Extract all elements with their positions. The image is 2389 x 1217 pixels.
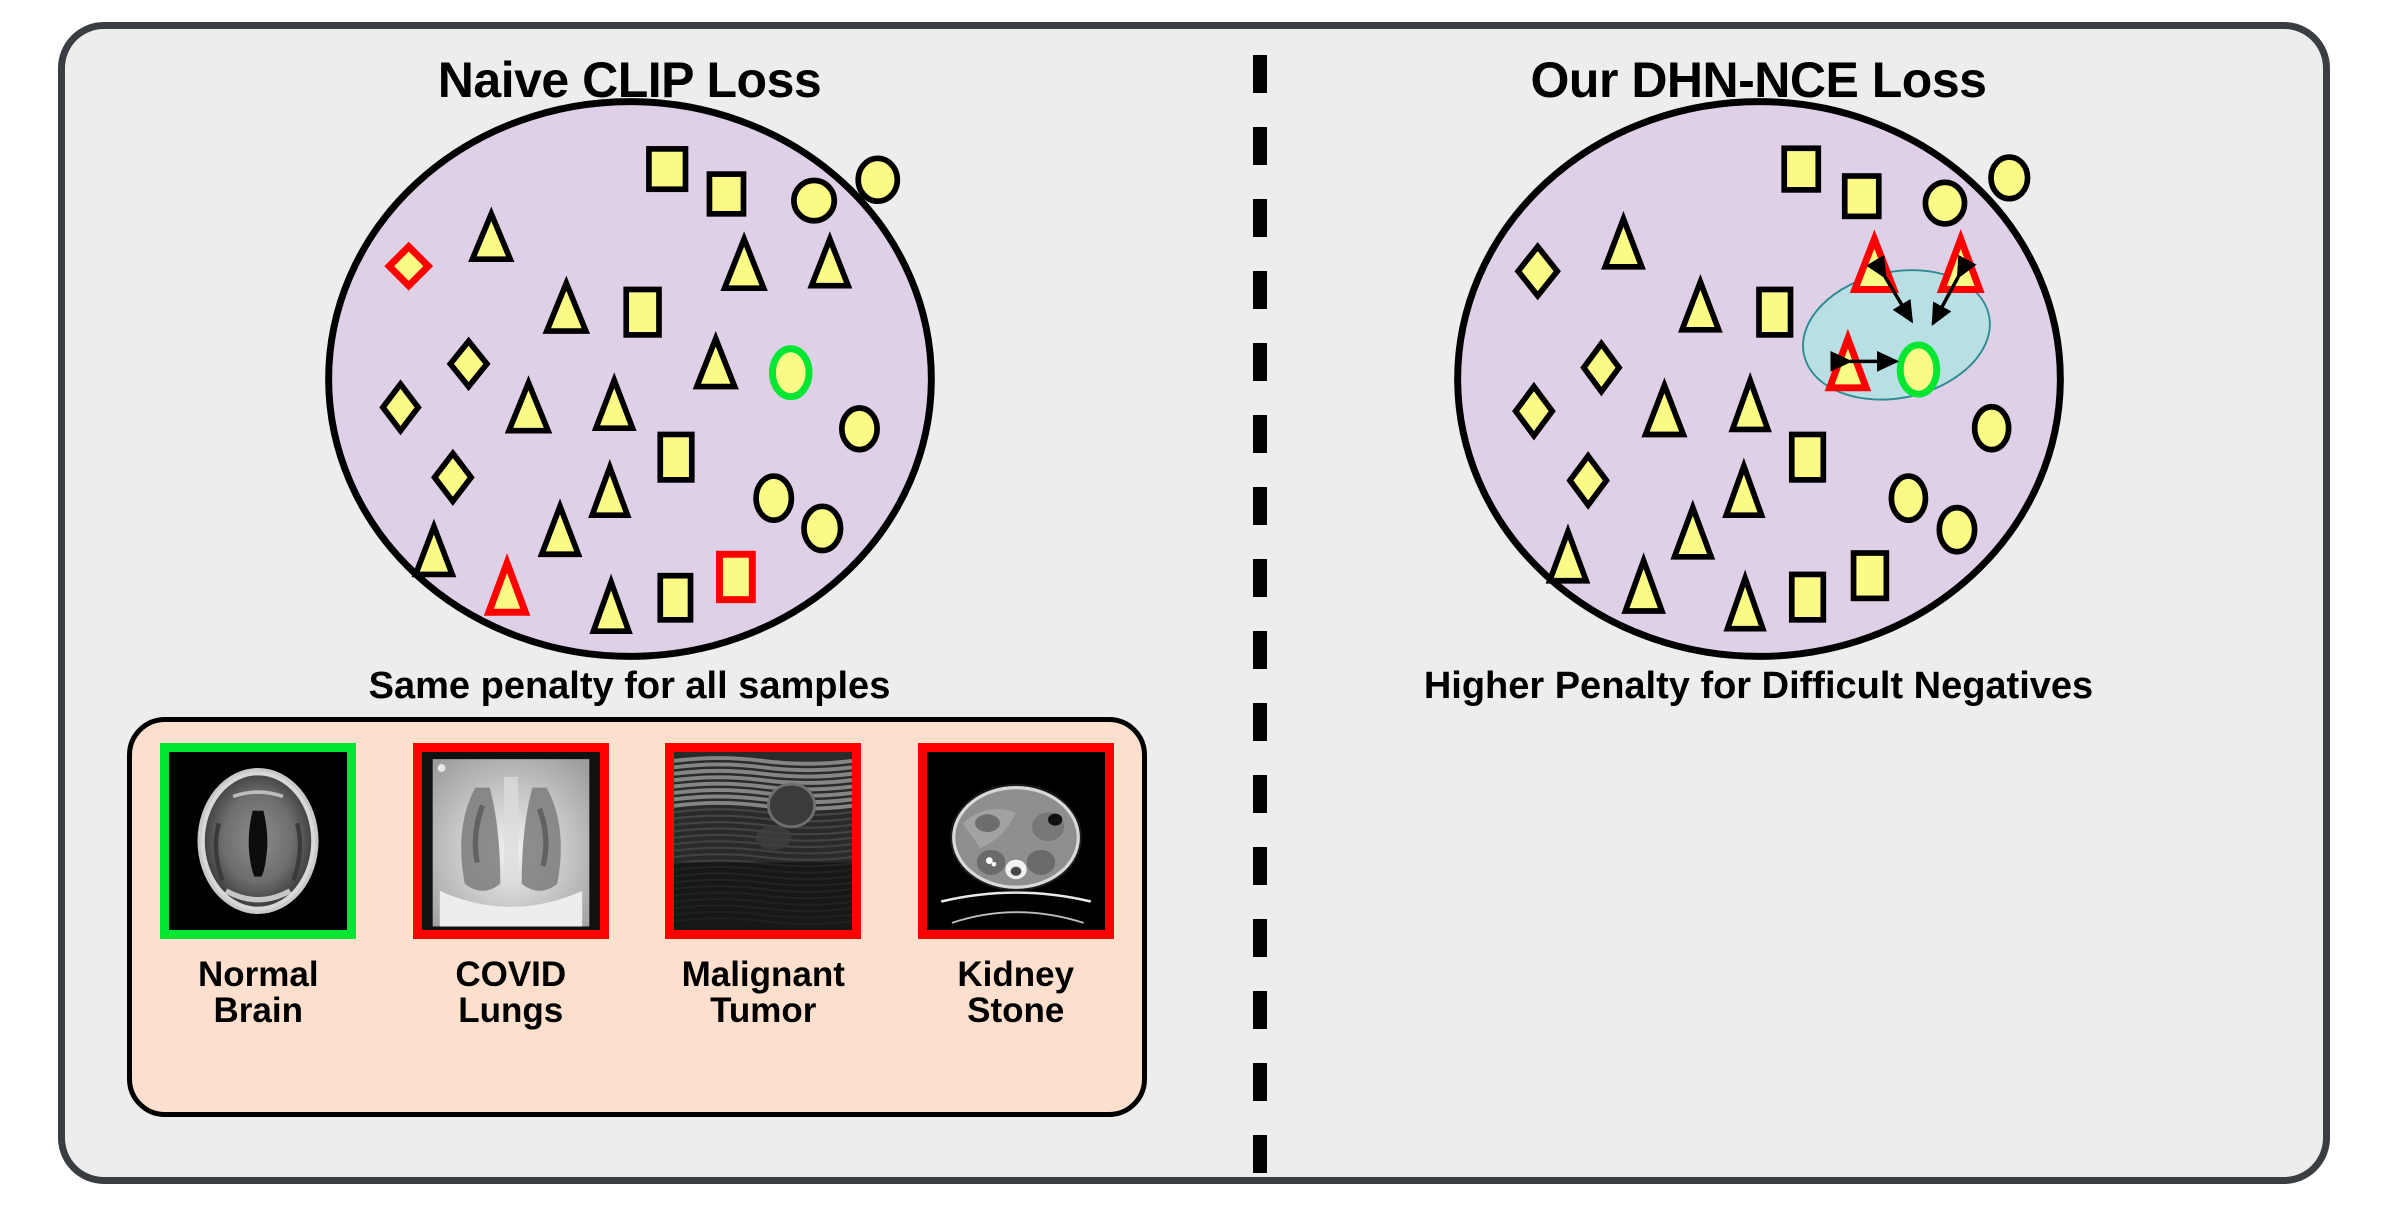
embedding-shape-square — [1759, 289, 1791, 334]
embedding-space-boundary — [1457, 102, 2060, 657]
sample-thumbnail[interactable] — [413, 743, 609, 939]
embedding-shape-square — [648, 149, 685, 189]
medical-image-chest-xray — [422, 752, 600, 930]
embedding-shape-square — [1784, 148, 1818, 190]
embedding-shape-square — [660, 434, 692, 479]
embedding-shape-square — [1791, 434, 1823, 479]
embedding-shape-circle — [1939, 508, 1974, 552]
embedding-shape-square — [709, 174, 743, 214]
sample-thumbnail[interactable] — [918, 743, 1114, 939]
sample-label: Kidney Stone — [957, 957, 1074, 1030]
embedding-shape-circle — [772, 349, 809, 397]
embedding-shape-circle — [858, 158, 897, 201]
panel-naive-clip: Naive CLIP Loss Same penalty for all sam… — [65, 29, 1194, 1177]
embedding-shape-square — [1791, 574, 1823, 619]
medical-image-ultrasound-tumor — [674, 752, 852, 930]
embedding-shape-circle — [1925, 182, 1964, 224]
right-caption: Higher Penalty for Difficult Negatives — [1194, 665, 2323, 708]
sample-label: Normal Brain — [198, 957, 319, 1030]
embedding-shape-circle — [804, 506, 841, 550]
right-embedding-space — [1259, 89, 2259, 669]
embedding-shape-circle — [756, 476, 791, 520]
left-caption: Same penalty for all samples — [65, 665, 1194, 708]
sample-cell[interactable]: Kidney Stone — [910, 743, 1122, 1030]
embedding-shape-circle — [1974, 407, 2008, 450]
left-sample-strip: Normal BrainCOVID LungsMalignant TumorKi… — [127, 717, 1147, 1117]
embedding-shape-circle — [793, 180, 833, 220]
left-embedding-space — [130, 89, 1130, 669]
embedding-shape-circle — [1891, 476, 1925, 520]
sample-cell[interactable]: Normal Brain — [152, 743, 364, 1030]
panel-dhn-nce: Our DHN-NCE Loss Higher Penalty for Diff… — [1194, 29, 2323, 1177]
embedding-shape-square — [1844, 176, 1878, 216]
sample-label: COVID Lungs — [455, 957, 566, 1030]
figure-card: Naive CLIP Loss Same penalty for all sam… — [58, 22, 2330, 1184]
left-sample-cells: Normal BrainCOVID LungsMalignant TumorKi… — [132, 722, 1142, 1112]
sample-thumbnail[interactable] — [160, 743, 356, 939]
embedding-shape-circle — [841, 408, 876, 450]
embedding-shape-square — [719, 554, 752, 599]
sample-label: Malignant Tumor — [682, 957, 845, 1030]
embedding-shape-square — [626, 289, 659, 334]
left-embedding-space-wrap — [65, 89, 1194, 669]
sample-cell[interactable]: COVID Lungs — [405, 743, 617, 1030]
embedding-shape-circle — [1991, 157, 2028, 199]
embedding-shape-square — [660, 576, 690, 620]
embedding-shape-circle — [1900, 345, 1937, 394]
right-embedding-space-wrap — [1194, 89, 2323, 669]
sample-thumbnail[interactable] — [665, 743, 861, 939]
sample-cell[interactable]: Malignant Tumor — [657, 743, 869, 1030]
medical-image-abdominal-ct — [927, 752, 1105, 930]
medical-image-brain-mri-normal — [169, 752, 347, 930]
embedding-shape-square — [1853, 553, 1886, 598]
